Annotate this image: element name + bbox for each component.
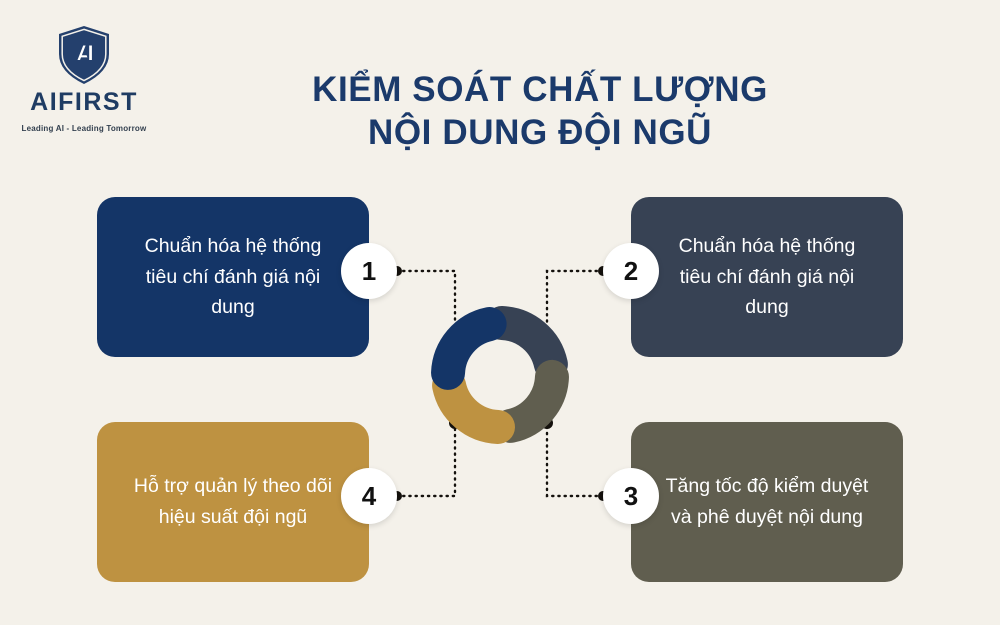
card-3-text: Tăng tốc độ kiểm duyệt và phê duyệt nội … <box>661 471 873 533</box>
card-3[interactable]: Tăng tốc độ kiểm duyệt và phê duyệt nội … <box>631 422 903 582</box>
infographic-canvas: AIFIRST Leading AI - Leading Tomorrow KI… <box>0 0 1000 625</box>
step-badge-3[interactable]: 3 <box>603 468 659 524</box>
card-1[interactable]: Chuẩn hóa hệ thống tiêu chí đánh giá nội… <box>97 197 369 357</box>
logo-wordmark: AIFIRST <box>14 90 154 115</box>
card-4[interactable]: Hỗ trợ quản lý theo dõi hiệu suất đội ng… <box>97 422 369 582</box>
step-badge-1[interactable]: 1 <box>341 243 397 299</box>
logo-tagline: Leading AI - Leading Tomorrow <box>14 124 154 133</box>
brand-logo: AIFIRST Leading AI - Leading Tomorrow <box>14 24 154 133</box>
page-title-line-1: KIỂM SOÁT CHẤT LƯỢNG <box>230 68 850 111</box>
card-1-text: Chuẩn hóa hệ thống tiêu chí đánh giá nội… <box>127 231 339 323</box>
card-2[interactable]: Chuẩn hóa hệ thống tiêu chí đánh giá nội… <box>631 197 903 357</box>
card-4-text: Hỗ trợ quản lý theo dõi hiệu suất đội ng… <box>127 471 339 533</box>
page-title: KIỂM SOÁT CHẤT LƯỢNG NỘI DUNG ĐỘI NGŨ <box>230 68 850 155</box>
step-badge-2[interactable]: 2 <box>603 243 659 299</box>
step-badge-4[interactable]: 4 <box>341 468 397 524</box>
shield-ai-icon <box>55 24 113 86</box>
card-2-text: Chuẩn hóa hệ thống tiêu chí đánh giá nội… <box>661 231 873 323</box>
page-title-line-2: NỘI DUNG ĐỘI NGŨ <box>230 111 850 154</box>
donut-chart <box>425 300 575 450</box>
